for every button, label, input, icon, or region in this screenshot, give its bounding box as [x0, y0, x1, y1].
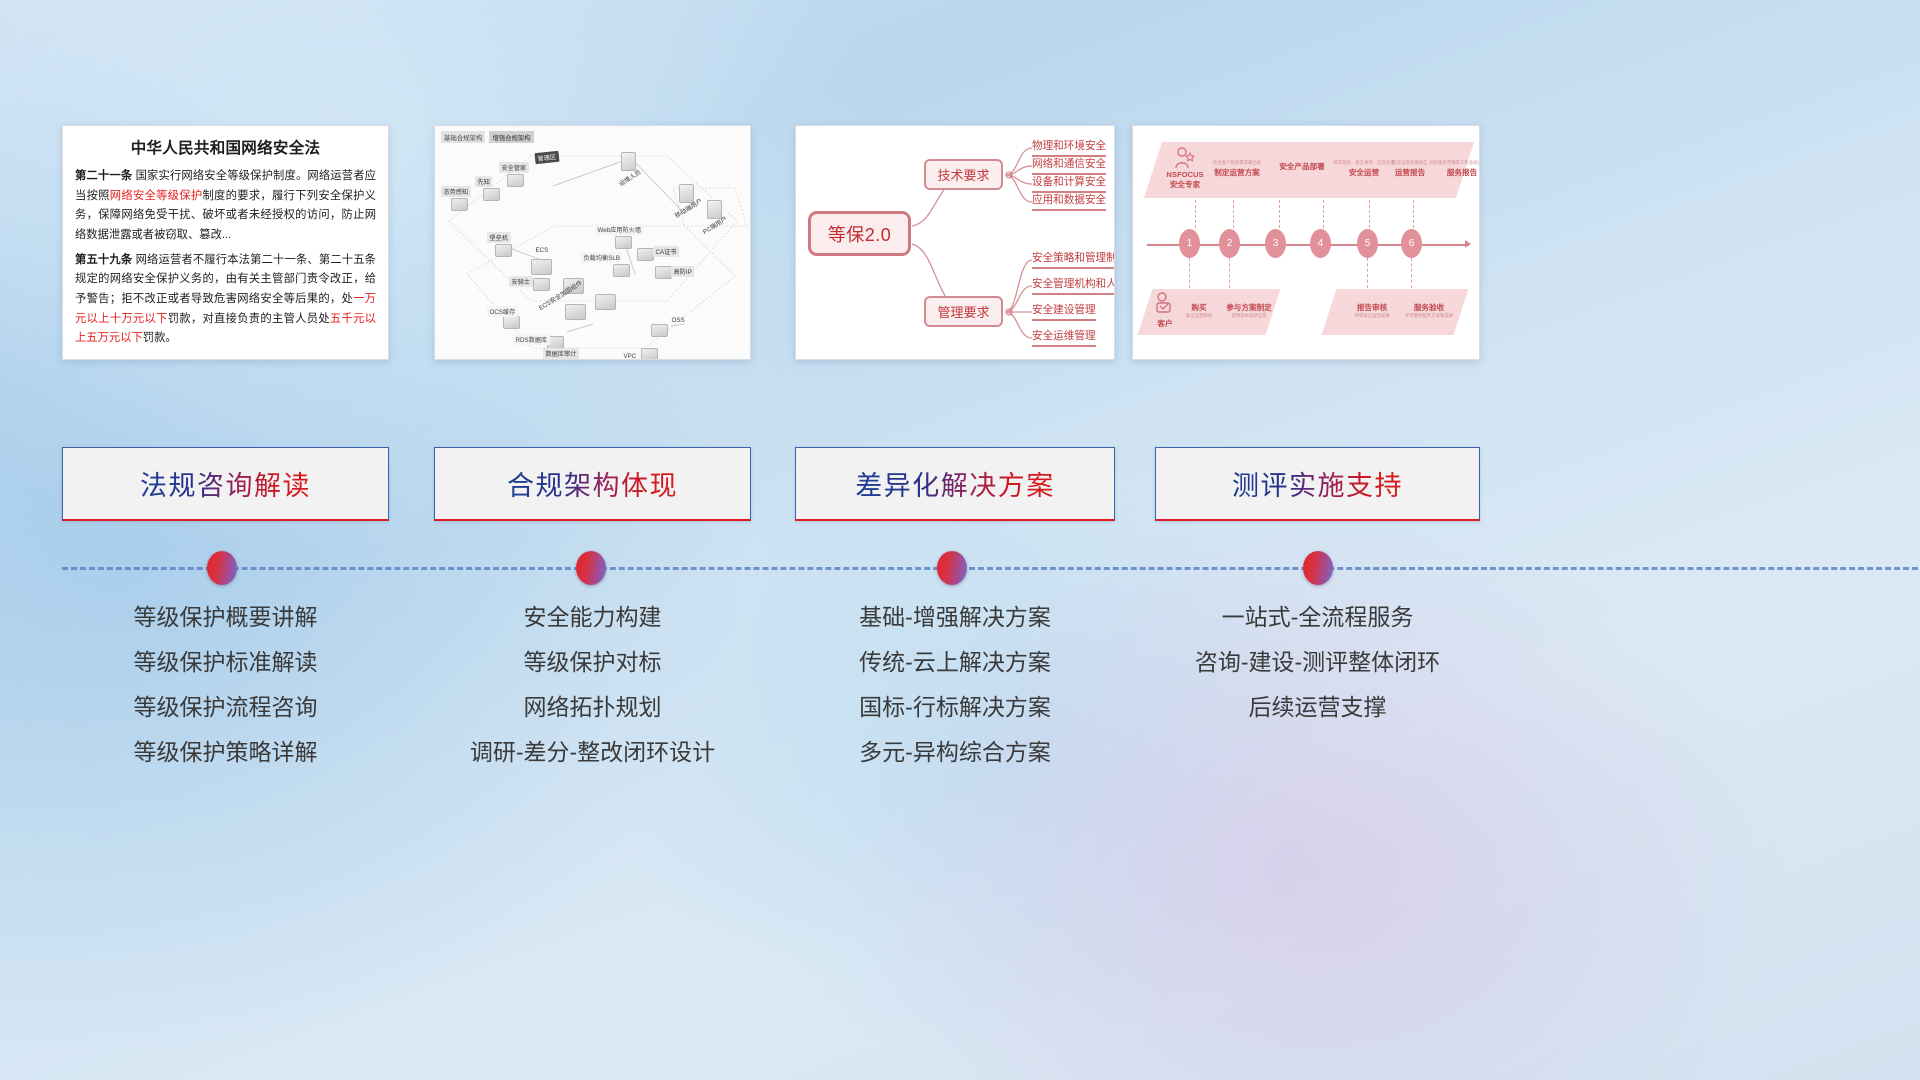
customer-icon: [1155, 292, 1175, 318]
mindmap-root-node[interactable]: 等保2.0: [808, 211, 911, 256]
timeline-dot-2[interactable]: [576, 551, 606, 585]
detail-item: 一站式-全流程服务: [1155, 606, 1480, 629]
card-service-process[interactable]: NSFOCUS 安全专家 结合客户现状需求输出具 制定运营方案 安全产品部署 日…: [1132, 125, 1480, 360]
detail-item: 调研-差分-整改闭环设计: [434, 741, 751, 764]
node-icon-ca-certificate: [637, 248, 654, 261]
process-connector-8: [1229, 258, 1230, 288]
detail-item: 等级保护概要讲解: [62, 606, 389, 629]
process-role-expert: NSFOCUS 安全专家: [1159, 170, 1211, 190]
detail-item: 基础-增强解决方案: [795, 606, 1115, 629]
node-label-waf: Web应用防火墙: [595, 224, 644, 235]
process-connector-3: [1279, 200, 1280, 228]
step-sub: 总结服务范围等工作总体运营效果: [1425, 160, 1480, 166]
mindmap-leaf-application-data[interactable]: 应用和数据安全: [1032, 192, 1106, 211]
node-icon-oss: [651, 324, 668, 337]
node-label-security-butler: 安全管家: [499, 162, 529, 173]
step-title: 服务报告: [1425, 167, 1480, 178]
node-icon-ecs: [531, 259, 552, 275]
process-diagram: NSFOCUS 安全专家 结合客户现状需求输出具 制定运营方案 安全产品部署 日…: [1133, 126, 1479, 359]
process-bottom-step-3[interactable]: 报告审核 评审安全运营成果: [1349, 302, 1395, 320]
process-bottom-step-4[interactable]: 服务验收 评审整体服务方案和成果: [1399, 302, 1459, 320]
node-icon-xianzhi: [483, 188, 500, 201]
detail-item: 国标-行标解决方案: [795, 696, 1115, 719]
process-connector-7: [1189, 258, 1190, 288]
law-text: 罚款。: [143, 332, 177, 344]
mindmap-leaf-security-policy[interactable]: 安全策略和管理制度: [1032, 250, 1115, 269]
detail-column-compliance-architecture: 安全能力构建 等级保护对标 网络拓扑规划 调研-差分-整改闭环设计: [434, 606, 751, 786]
detail-item: 咨询-建设-测评整体闭环: [1155, 651, 1480, 674]
process-top-step-5[interactable]: 总结服务范围等工作总体运营效果 服务报告: [1425, 160, 1480, 178]
node-label-bastion-host: 堡垒机: [487, 232, 511, 243]
law-paragraph-59: 第五十九条 网络运营者不履行本法第二十一条、第二十五条规定的网络安全保护义务的，…: [75, 251, 376, 349]
process-step-node-6[interactable]: 6: [1401, 229, 1422, 258]
timeline-dashed-line: [62, 567, 1918, 570]
section-header-label: 测评实施支持: [1232, 464, 1403, 503]
customer-label: 客户: [1147, 318, 1183, 329]
timeline-dot-1[interactable]: [207, 551, 237, 585]
step-sub: 评审整体服务方案和成果: [1399, 313, 1459, 319]
step-sub: 安全运营服务: [1179, 313, 1219, 319]
node-label-anti-ddos-ip: 高防IP: [671, 266, 694, 277]
process-step-node-3[interactable]: 3: [1265, 229, 1286, 258]
node-label-rds-database: RDS数据库: [513, 334, 550, 345]
detail-item: 后续运营支撑: [1155, 696, 1480, 719]
section-header-label: 合规架构体现: [507, 464, 678, 503]
section-header-differentiated-solution[interactable]: 差异化解决方案: [795, 447, 1115, 521]
step-title: 参与方案制定: [1217, 302, 1281, 313]
timeline-dot-3[interactable]: [937, 551, 967, 585]
step-title: 服务验收: [1399, 302, 1459, 313]
step-title: 购买: [1179, 302, 1219, 313]
node-icon-anqishi: [533, 278, 550, 291]
node-icon-anti-ddos-ip: [655, 266, 672, 279]
section-header-label: 差异化解决方案: [855, 464, 1055, 503]
detail-item: 安全能力构建: [434, 606, 751, 629]
law-text: 罚款，对直接负责的主管人员处: [168, 313, 330, 325]
process-step-node-2[interactable]: 2: [1219, 229, 1240, 258]
node-icon-security-butler: [507, 174, 524, 187]
step-title: 制定运营方案: [1205, 167, 1269, 178]
card-mindmap-dengbao[interactable]: 等保2.0 技术要求 物理和环境安全 网络和通信安全 设备和计算安全 应用和数据…: [795, 125, 1115, 360]
law-document: 中华人民共和国网络安全法 第二十一条 国家实行网络安全等级保护制度。网络运营者应…: [63, 126, 388, 355]
node-icon-ecs-4: [595, 294, 616, 310]
node-label-ocs-cache: OCS缓存: [487, 306, 518, 317]
process-bottom-step-1[interactable]: 购买 安全运营服务: [1179, 302, 1219, 320]
process-step-node-4[interactable]: 4: [1310, 229, 1331, 258]
law-highlight: 网络安全等级保护: [110, 190, 203, 202]
process-top-step-1[interactable]: 结合客户现状需求输出具 制定运营方案: [1205, 160, 1269, 178]
step-sub: 提供基本现状信息: [1217, 313, 1281, 319]
process-connector-6: [1413, 200, 1414, 228]
detail-column-assessment-support: 一站式-全流程服务 咨询-建设-测评整体闭环 后续运营支撑: [1155, 606, 1480, 741]
mindmap-leaf-device-computing[interactable]: 设备和计算安全: [1032, 174, 1106, 193]
step-sub: 评审安全运营成果: [1349, 313, 1395, 319]
detail-item: 等级保护策略详解: [62, 741, 389, 764]
expert-label-line1: NSFOCUS: [1159, 170, 1211, 179]
mindmap: 等保2.0 技术要求 物理和环境安全 网络和通信安全 设备和计算安全 应用和数据…: [796, 126, 1114, 359]
step-title: 安全产品部署: [1271, 161, 1333, 172]
process-bottom-step-2[interactable]: 参与方案制定 提供基本现状信息: [1217, 302, 1281, 320]
node-icon-slb: [613, 264, 630, 277]
detail-column-differentiated-solution: 基础-增强解决方案 传统-云上解决方案 国标-行标解决方案 多元-异构综合方案: [795, 606, 1115, 786]
process-connector-1: [1195, 200, 1196, 228]
process-connector-5: [1369, 200, 1370, 228]
node-icon-ecs-3: [565, 304, 586, 320]
section-header-compliance-architecture[interactable]: 合规架构体现: [434, 447, 751, 521]
node-label-ca-certificate: CA证书: [653, 246, 679, 257]
process-connector-2: [1233, 200, 1234, 228]
node-label-slb: 负载均衡SLB: [581, 252, 622, 263]
security-expert-icon: [1173, 146, 1195, 170]
timeline-dot-4[interactable]: [1303, 551, 1333, 585]
mindmap-leaf-physical-environment[interactable]: 物理和环境安全: [1032, 138, 1106, 157]
step-sub: 结合客户现状需求输出具: [1205, 160, 1269, 166]
node-icon-situational-awareness: [451, 198, 468, 211]
detail-item: 等级保护标准解读: [62, 651, 389, 674]
law-title: 中华人民共和国网络安全法: [75, 136, 376, 158]
node-label-ecs: ECS: [533, 246, 551, 255]
process-connector-9: [1367, 258, 1368, 288]
process-axis-arrow-icon: [1465, 240, 1471, 248]
detail-item: 传统-云上解决方案: [795, 651, 1115, 674]
process-step-node-5[interactable]: 5: [1357, 229, 1378, 258]
mindmap-leaf-security-construction[interactable]: 安全建设管理: [1032, 302, 1096, 321]
node-icon-waf: [615, 236, 632, 249]
process-role-customer: 客户: [1147, 318, 1183, 329]
mindmap-leaf-security-operations[interactable]: 安全运维管理: [1032, 328, 1096, 347]
law-paragraph-21: 第二十一条 国家实行网络安全等级保护制度。网络运营者应当按照网络安全等级保护制度…: [75, 167, 376, 246]
detail-item: 等级保护流程咨询: [62, 696, 389, 719]
preview-cards-row: 中华人民共和国网络安全法 第二十一条 国家实行网络安全等级保护制度。网络运营者应…: [0, 0, 1920, 430]
section-header-assessment-support[interactable]: 测评实施支持: [1155, 447, 1480, 521]
architecture-diagram: 基础合规架构 增强合规架构 管理区: [435, 126, 750, 359]
node-label-vpc: VPC: [621, 352, 639, 360]
detail-item: 网络拓扑规划: [434, 696, 751, 719]
node-icon-ocs-cache: [503, 316, 520, 329]
mindmap-leaf-security-org-personnel[interactable]: 安全管理机构和人员: [1032, 276, 1115, 295]
mindmap-branch-management[interactable]: 管理要求: [924, 296, 1003, 327]
node-label-oss: OSS: [669, 316, 687, 325]
card-cybersecurity-law[interactable]: 中华人民共和国网络安全法 第二十一条 国家实行网络安全等级保护制度。网络运营者应…: [62, 125, 389, 360]
section-header-regulation-consulting[interactable]: 法规咨询解读: [62, 447, 389, 521]
process-step-node-1[interactable]: 1: [1179, 229, 1200, 258]
mindmap-leaf-network-communication[interactable]: 网络和通信安全: [1032, 156, 1106, 175]
node-label-situational-awareness: 态势感知: [441, 186, 471, 197]
process-connector-4: [1323, 200, 1324, 228]
section-header-label: 法规咨询解读: [140, 464, 311, 503]
architecture-connector-lines: [435, 126, 751, 360]
node-icon-vpc: [641, 348, 658, 360]
step-title: 报告审核: [1349, 302, 1395, 313]
node-label-xianzhi: 先知: [475, 176, 492, 187]
law-article-number: 第五十九条: [75, 254, 132, 266]
process-top-step-2[interactable]: 安全产品部署: [1271, 160, 1333, 172]
mindmap-branch-technical[interactable]: 技术要求: [924, 159, 1003, 190]
detail-item: 多元-异构综合方案: [795, 741, 1115, 764]
detail-column-regulation-consulting: 等级保护概要讲解 等级保护标准解读 等级保护流程咨询 等级保护策略详解: [62, 606, 389, 786]
expert-label-line2: 安全专家: [1159, 179, 1211, 190]
law-article-number: 第二十一条: [75, 170, 132, 182]
process-connector-10: [1411, 258, 1412, 288]
node-label-database-audit: 数据库审计: [543, 348, 579, 359]
node-icon-bastion-host: [495, 244, 512, 257]
detail-item: 等级保护对标: [434, 651, 751, 674]
node-label-anqishi: 安骑士: [509, 276, 533, 287]
card-cloud-architecture[interactable]: 基础合规架构 增强合规架构 管理区: [434, 125, 751, 360]
